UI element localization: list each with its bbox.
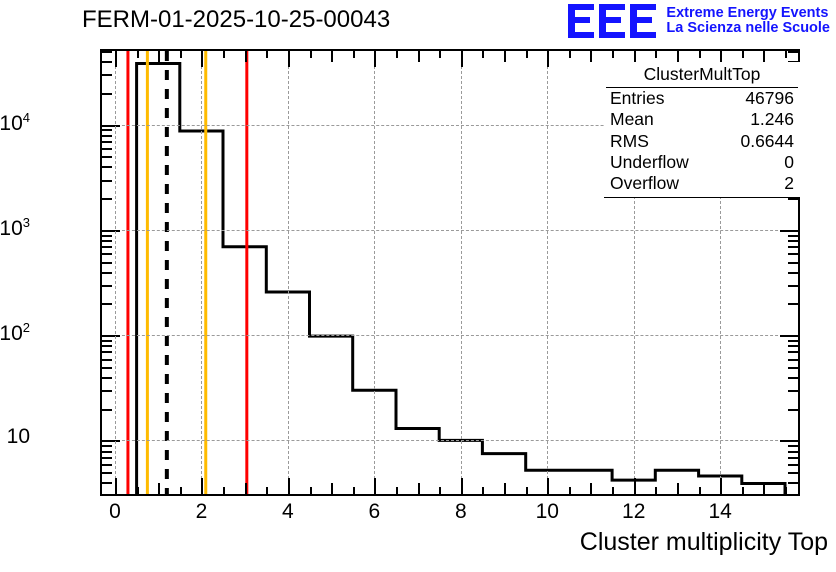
x-tick	[223, 487, 225, 494]
stats-title: ClusterMultTop	[606, 62, 798, 88]
y-tick	[102, 451, 112, 453]
y-tick	[102, 440, 120, 442]
x-tick	[655, 487, 657, 494]
x-tick-label: 2	[171, 500, 231, 524]
x-tick	[612, 487, 614, 494]
x-tick	[201, 51, 203, 67]
x-tick	[655, 51, 657, 58]
x-tick	[115, 51, 117, 67]
x-tick	[590, 51, 592, 62]
x-tick	[569, 487, 571, 494]
x-tick	[353, 51, 355, 58]
y-tick	[102, 253, 112, 255]
x-tick	[396, 487, 398, 494]
x-tick	[331, 51, 333, 62]
eee-mark-icon	[568, 2, 660, 40]
x-tick	[396, 51, 398, 58]
y-tick	[102, 472, 112, 474]
x-tick	[482, 51, 484, 58]
stats-row-key: Entries	[610, 88, 664, 109]
stats-row-value: 0.6644	[740, 131, 794, 152]
y-tick-label: 10	[0, 425, 30, 449]
y-tick	[788, 198, 798, 200]
y-tick	[788, 345, 798, 347]
x-tick-label: 0	[85, 500, 145, 524]
y-tick	[788, 272, 798, 274]
y-tick	[788, 253, 798, 255]
stats-row-key: Mean	[610, 109, 654, 130]
x-tick	[439, 487, 441, 494]
x-tick-label: 12	[604, 500, 664, 524]
x-tick-label: 10	[517, 500, 577, 524]
y-tick	[102, 457, 112, 459]
x-tick	[245, 51, 247, 62]
y-tick	[102, 445, 112, 447]
y-tick	[102, 129, 112, 131]
stats-row-value: 1.246	[750, 109, 794, 130]
y-tick	[788, 464, 798, 466]
eee-logo-line2: La Scienza nelle Scuole	[666, 21, 830, 36]
y-tick	[102, 180, 112, 182]
y-tick	[102, 135, 112, 137]
y-tick	[102, 240, 112, 242]
y-tick	[102, 166, 112, 168]
y-tick	[780, 230, 798, 232]
stats-row: RMS0.6644	[608, 131, 796, 152]
x-tick	[266, 487, 268, 494]
y-tick-label: 103	[0, 215, 30, 241]
x-tick	[569, 51, 571, 58]
x-tick	[677, 51, 679, 62]
x-tick	[310, 51, 312, 58]
y-tick	[788, 262, 798, 264]
y-tick	[102, 148, 112, 150]
y-tick	[102, 61, 112, 63]
x-tick	[266, 51, 268, 58]
y-tick	[102, 156, 112, 158]
chart-canvas: FERM-01-2025-10-25-00043 Extreme Energy …	[0, 0, 836, 572]
x-tick	[763, 483, 765, 494]
x-tick	[461, 51, 463, 67]
y-tick	[788, 451, 798, 453]
x-tick-label: 4	[258, 500, 318, 524]
y-tick	[102, 285, 112, 287]
y-tick	[102, 272, 112, 274]
y-tick	[102, 340, 112, 342]
y-tick	[102, 482, 112, 484]
y-tick	[788, 240, 798, 242]
y-tick	[788, 482, 798, 484]
y-tick	[788, 457, 798, 459]
x-tick	[223, 51, 225, 58]
x-tick	[331, 483, 333, 494]
x-tick	[374, 478, 376, 494]
y-tick	[102, 464, 112, 466]
x-tick	[504, 51, 506, 62]
x-tick-label: 14	[690, 500, 750, 524]
x-tick	[137, 51, 139, 58]
x-tick	[526, 487, 528, 494]
x-tick	[612, 51, 614, 58]
y-tick	[788, 351, 798, 353]
x-tick	[634, 478, 636, 494]
y-tick-label: 104	[0, 110, 30, 136]
x-tick	[461, 478, 463, 494]
x-tick	[677, 483, 679, 494]
y-tick	[788, 359, 798, 361]
y-tick	[102, 93, 112, 95]
x-tick	[418, 51, 420, 62]
x-tick	[526, 51, 528, 58]
stats-row-key: Underflow	[610, 152, 689, 173]
y-tick	[102, 235, 112, 237]
y-tick	[788, 235, 798, 237]
stats-row-value: 2	[784, 173, 794, 194]
y-tick	[102, 390, 112, 392]
y-tick	[788, 472, 798, 474]
x-tick	[374, 51, 376, 67]
y-tick	[102, 377, 112, 379]
y-tick	[102, 74, 112, 76]
eee-logo: Extreme Energy Events La Scienza nelle S…	[568, 2, 830, 40]
x-tick-label: 8	[431, 500, 491, 524]
x-axis-title: Cluster multiplicity Top	[580, 528, 828, 557]
eee-logo-text: Extreme Energy Events La Scienza nelle S…	[666, 6, 830, 36]
stats-row-value: 46796	[745, 88, 794, 109]
x-tick	[180, 51, 182, 58]
x-tick	[785, 51, 787, 58]
stats-rows: Entries46796Mean1.246RMS0.6644Underflow0…	[604, 88, 800, 197]
y-tick	[102, 230, 120, 232]
y-tick	[102, 198, 112, 200]
x-tick	[158, 483, 160, 494]
x-tick	[137, 487, 139, 494]
y-tick	[102, 351, 112, 353]
x-tick-label: 6	[344, 500, 404, 524]
y-tick	[102, 335, 120, 337]
page-title: FERM-01-2025-10-25-00043	[82, 6, 390, 34]
stats-row: Entries46796	[608, 88, 796, 109]
y-tick	[780, 440, 798, 442]
x-tick	[547, 478, 549, 494]
y-tick	[102, 262, 112, 264]
x-tick	[439, 51, 441, 58]
y-tick	[102, 359, 112, 361]
y-tick	[780, 335, 798, 337]
stats-row-key: RMS	[610, 131, 649, 152]
x-tick	[115, 478, 117, 494]
x-tick	[201, 478, 203, 494]
stats-row-key: Overflow	[610, 173, 679, 194]
y-tick	[788, 409, 798, 411]
y-tick	[102, 141, 112, 143]
stats-row: Mean1.246	[608, 109, 796, 130]
x-tick	[288, 51, 290, 67]
y-tick	[102, 125, 120, 127]
x-tick	[699, 51, 701, 58]
eee-logo-line1: Extreme Energy Events	[666, 6, 830, 21]
y-tick-label: 102	[0, 320, 30, 346]
y-tick	[788, 367, 798, 369]
stats-row: Overflow2	[608, 173, 796, 194]
y-tick	[102, 303, 112, 305]
x-tick	[763, 51, 765, 62]
x-tick	[742, 51, 744, 58]
x-tick	[785, 487, 787, 494]
x-tick	[720, 478, 722, 494]
x-tick	[353, 487, 355, 494]
y-tick	[788, 390, 798, 392]
y-tick	[788, 377, 798, 379]
x-tick	[245, 483, 247, 494]
y-tick	[788, 246, 798, 248]
x-tick	[742, 487, 744, 494]
x-tick	[310, 487, 312, 494]
x-tick	[418, 483, 420, 494]
x-tick	[158, 51, 160, 62]
y-tick	[788, 303, 798, 305]
x-tick	[547, 51, 549, 67]
x-tick	[590, 483, 592, 494]
x-tick	[180, 487, 182, 494]
stats-box: ClusterMultTop Entries46796Mean1.246RMS0…	[604, 62, 800, 198]
y-tick	[102, 246, 112, 248]
y-tick	[788, 445, 798, 447]
x-tick	[699, 487, 701, 494]
y-tick	[102, 367, 112, 369]
x-tick	[504, 483, 506, 494]
y-tick	[788, 51, 798, 53]
y-tick	[788, 340, 798, 342]
y-tick	[788, 285, 798, 287]
stats-row-value: 0	[784, 152, 794, 173]
y-tick	[102, 345, 112, 347]
stats-row: Underflow0	[608, 152, 796, 173]
x-tick	[482, 487, 484, 494]
y-tick	[102, 51, 112, 53]
x-tick	[288, 478, 290, 494]
y-tick	[102, 409, 112, 411]
